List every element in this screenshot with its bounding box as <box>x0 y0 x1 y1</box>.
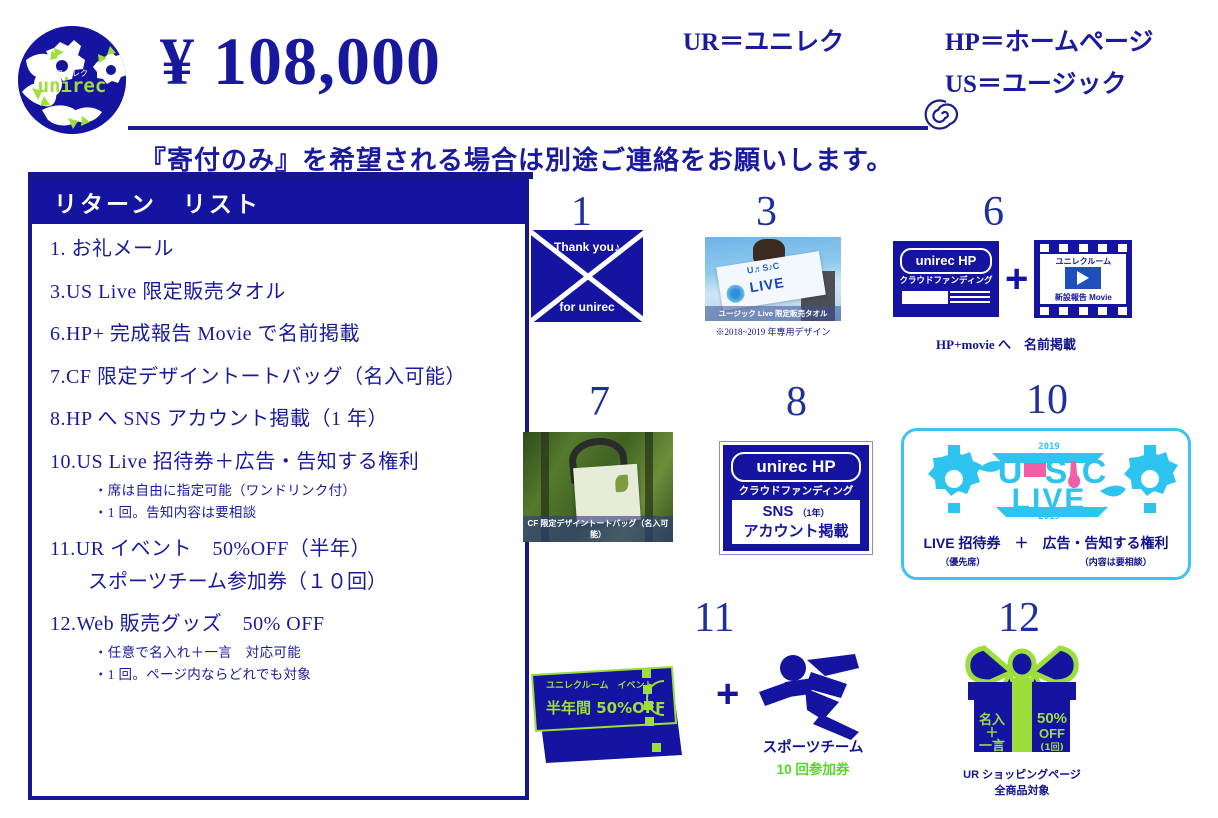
plus-sign-11: + <box>716 672 739 717</box>
return-number-11: 11 <box>694 594 734 642</box>
hp-card-bar <box>902 291 948 304</box>
sns-label: SNS <box>762 503 793 520</box>
towel-photo-caption: ユージック Live 限定販売タオル <box>705 306 841 321</box>
sns-card-box: SNS （1年） アカウント掲載 <box>732 500 860 544</box>
return-6-caption: HP+movie へ 名前掲載 <box>893 334 1119 353</box>
list-item: 3.US Live 限定販売タオル <box>50 281 509 305</box>
discount-ticket-icon: ユニレクルーム イベント 半年間 50%OFF <box>524 655 714 770</box>
gift-caption-main: UR ショッピングページ <box>938 766 1106 782</box>
unirec-logo: ユニレク unirec <box>18 26 126 134</box>
film-top-text: ユニレクルーム <box>1040 256 1126 267</box>
gift-box-icon: 名入 ＋ 一言 50% OFF (1回) <box>958 640 1086 760</box>
list-item: 10.US Live 招待券＋広告・告知する権利 <box>50 451 509 475</box>
sns-box-line2: アカウント掲載 <box>732 520 860 541</box>
legend-hp: HP＝ホームページ <box>945 22 1153 58</box>
live-logo-year-top: 2019 <box>1038 442 1060 452</box>
sns-card-title: unirec HP <box>731 452 861 482</box>
hp-card-lines <box>950 291 990 304</box>
return-number-7: 7 <box>589 378 610 426</box>
envelope-bottom-text: for unirec <box>531 300 643 314</box>
play-button-icon <box>1065 267 1101 289</box>
spiral-icon <box>916 96 962 140</box>
runner-caption-main: スポーツチーム <box>748 736 878 757</box>
towel-logo-top: U♬S♪C <box>746 261 780 276</box>
gift-right-line2: OFF <box>1039 726 1065 741</box>
list-item-note: ・任意で名入れ＋一言 対応可能 <box>94 641 509 661</box>
sns-card-subtitle: クラウドファンディング <box>723 483 869 498</box>
film-bottom-text: 新設報告 Movie <box>1040 292 1126 303</box>
return-item-6: unirec HP クラウドファンディング + ユニレクルーム 新設報告 Mov… <box>893 240 1132 318</box>
towel-logo-main: LIVE <box>748 274 785 295</box>
film-strip-icon: ユニレクルーム 新設報告 Movie <box>1034 240 1132 318</box>
tote-bag-caption: CF 限定デザイントートバッグ（名入可能） <box>523 516 673 542</box>
return-item-12: 名入 ＋ 一言 50% OFF (1回) <box>958 640 1086 765</box>
panel-title: リターン リスト <box>32 180 525 224</box>
list-item: 8.HP へ SNS アカウント掲載（1 年） <box>50 408 509 432</box>
poster-root: ユニレク unirec ¥ 108,000 UR＝ユニレク HP＝ホームページ … <box>0 0 1218 818</box>
logo-word-text: unirec <box>38 75 107 97</box>
return-number-3: 3 <box>756 188 777 236</box>
live-caption-subs: （優先席） （内容は要相談） <box>904 555 1188 568</box>
runner-caption-sub: 10 回参加券 <box>748 758 878 778</box>
towel-snowflake-icon <box>725 283 746 304</box>
return-item-11: ユニレクルーム イベント 半年間 50%OFF <box>524 655 714 775</box>
live-caption-sub-right: （内容は要相談） <box>1080 555 1152 568</box>
runner-group <box>755 648 875 745</box>
plus-sign-6: + <box>1005 257 1028 302</box>
unirec-hp-card: unirec HP クラウドファンディング <box>893 241 999 317</box>
film-perforations-bottom <box>1034 306 1132 315</box>
ticket-line2: 半年間 50%OFF <box>546 699 665 717</box>
towel-design-note: ※2018~2019 年専用デザイン <box>705 325 841 338</box>
return-number-10: 10 <box>1026 376 1068 424</box>
unirec-hp-title: unirec HP <box>900 248 992 274</box>
return-item-3: U♬S♪C LIVE ユージック Live 限定販売タオル ※2018~2019… <box>705 237 841 338</box>
header-divider <box>128 126 928 130</box>
panel-body: 1. お礼メール 3.US Live 限定販売タオル 6.HP+ 完成報告 Mo… <box>32 224 525 683</box>
list-item: 7.CF 限定デザイントートバッグ（名入可能） <box>50 366 509 390</box>
live-caption-main: LIVE 招待券 ＋ 広告・告知する権利 <box>904 533 1188 553</box>
towel-photo: U♬S♪C LIVE ユージック Live 限定販売タオル <box>705 237 841 321</box>
return-item-7: CF 限定デザイントートバッグ（名入可能） <box>523 432 673 542</box>
sns-duration: （1年） <box>798 508 830 518</box>
list-item-note: ・席は自由に指定可能（ワンドリンク付） <box>94 479 509 499</box>
live-invitation-card: 2019 2019 U S C LIVE LIVE 招待券 ＋ 広告・告知する権… <box>901 428 1191 580</box>
sns-account-card: unirec HP クラウドファンディング SNS （1年） アカウント掲載 <box>720 442 872 554</box>
list-item: 11.UR イベント 50%OFF（半年） <box>50 538 509 562</box>
unirec-hp-subtitle: クラウドファンディング <box>893 274 999 286</box>
unirec-logo-icon: ユニレク unirec <box>18 26 126 134</box>
live-logo-live: LIVE <box>1012 483 1087 516</box>
price-amount: ¥ 108,000 <box>160 22 441 101</box>
return-list-panel: リターン リスト 1. お礼メール 3.US Live 限定販売タオル 6.HP… <box>28 176 529 800</box>
return-number-8: 8 <box>786 378 807 426</box>
film-perforations-top <box>1034 243 1132 252</box>
return-item-10: 2019 2019 U S C LIVE LIVE 招待券 ＋ 広告・告知する権… <box>901 428 1191 580</box>
list-item-note: ・1 回。ページ内ならどれでも対象 <box>94 663 509 683</box>
gift-left-line3: 一言 <box>979 738 1005 754</box>
gift-caption-sub: 全商品対象 <box>938 782 1106 798</box>
return-item-8: unirec HP クラウドファンディング SNS （1年） アカウント掲載 <box>720 442 872 554</box>
return-item-1: Thank you♪ for unirec <box>531 230 643 322</box>
list-item: 1. お礼メール <box>50 238 509 262</box>
return-number-12: 12 <box>998 594 1040 642</box>
legend-ur: UR＝ユニレク <box>683 22 844 58</box>
legend-us: US＝ユージック <box>945 64 1126 100</box>
tote-bag-photo: CF 限定デザイントートバッグ（名入可能） <box>523 432 673 542</box>
return-number-1: 1 <box>571 188 592 236</box>
list-item: 12.Web 販売グッズ 50% OFF <box>50 613 509 637</box>
ticket-line1: ユニレクルーム イベント <box>546 680 653 691</box>
usc-live-logo-icon: 2019 2019 U S C LIVE <box>904 437 1194 529</box>
gift-right-line3: (1回) <box>1040 742 1064 753</box>
sns-box-line1: SNS （1年） <box>732 503 860 520</box>
list-item-note: ・1 回。告知内容は要相談 <box>94 501 509 521</box>
bag-leaf-print-icon <box>615 475 629 493</box>
runner-icon <box>755 648 875 740</box>
list-item: 6.HP+ 完成報告 Movie で名前掲載 <box>50 323 509 347</box>
envelope-icon: Thank you♪ for unirec <box>531 230 643 322</box>
list-item-continuation: スポーツチーム参加券（１０回） <box>88 565 509 594</box>
film-inner-frame: ユニレクルーム 新設報告 Movie <box>1040 254 1126 304</box>
return-number-6: 6 <box>983 188 1004 236</box>
live-caption-sub-left: （優先席） <box>940 555 985 568</box>
gift-right-line1: 50% <box>1037 710 1067 727</box>
